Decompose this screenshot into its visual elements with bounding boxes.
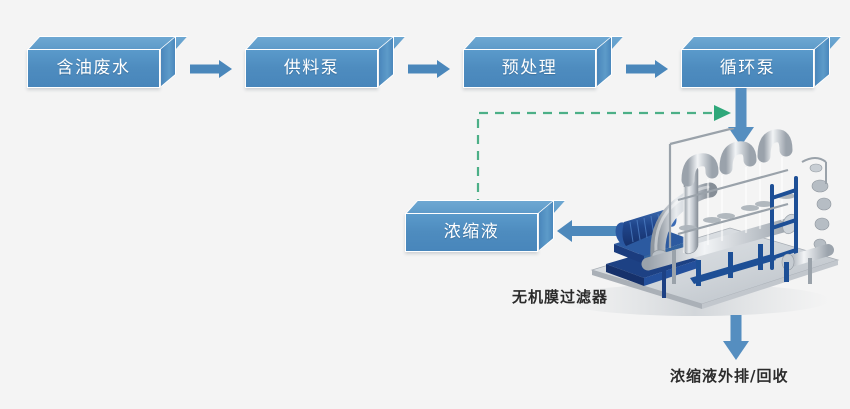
arrow-filter-to-output bbox=[723, 315, 749, 360]
process-box-label: 供料泵 bbox=[284, 60, 340, 77]
process-box-label: 预处理 bbox=[502, 60, 558, 77]
arrow-shaft bbox=[408, 65, 438, 74]
output-label: 浓缩液外排/回收 bbox=[670, 365, 788, 386]
process-box-pretreatment: 预处理 bbox=[463, 36, 611, 88]
process-box-oily-wastewater: 含油废水 bbox=[27, 36, 175, 88]
equipment-label: 无机膜过滤器 bbox=[512, 286, 608, 307]
arrow-shaft bbox=[626, 65, 656, 74]
arrow-head bbox=[655, 60, 668, 78]
arrow-head bbox=[219, 60, 232, 78]
arrow-shaft bbox=[190, 65, 220, 74]
arrow-head bbox=[437, 60, 450, 78]
box-front-face: 循环泵 bbox=[681, 49, 814, 88]
process-flow-diagram: 含油废水 供料泵 预处理 循环泵 bbox=[0, 0, 850, 409]
box-front-face: 预处理 bbox=[463, 49, 596, 88]
process-box-feed-pump: 供料泵 bbox=[245, 36, 393, 88]
process-box-label: 循环泵 bbox=[720, 60, 776, 77]
arrow-feedpump-to-pretreatment bbox=[408, 60, 450, 78]
arrow-shaft bbox=[736, 88, 747, 130]
process-box-circulation-pump: 循环泵 bbox=[681, 36, 829, 88]
box-front-face: 浓缩液 bbox=[405, 213, 538, 252]
arrow-oily-to-feedpump bbox=[190, 60, 232, 78]
process-box-label: 含油废水 bbox=[57, 60, 131, 77]
arrow-head bbox=[723, 341, 749, 360]
arrow-pretreatment-to-circpump bbox=[626, 60, 668, 78]
box-front-face: 供料泵 bbox=[245, 49, 378, 88]
process-box-label: 浓缩液 bbox=[444, 224, 500, 241]
box-front-face: 含油废水 bbox=[27, 49, 160, 88]
